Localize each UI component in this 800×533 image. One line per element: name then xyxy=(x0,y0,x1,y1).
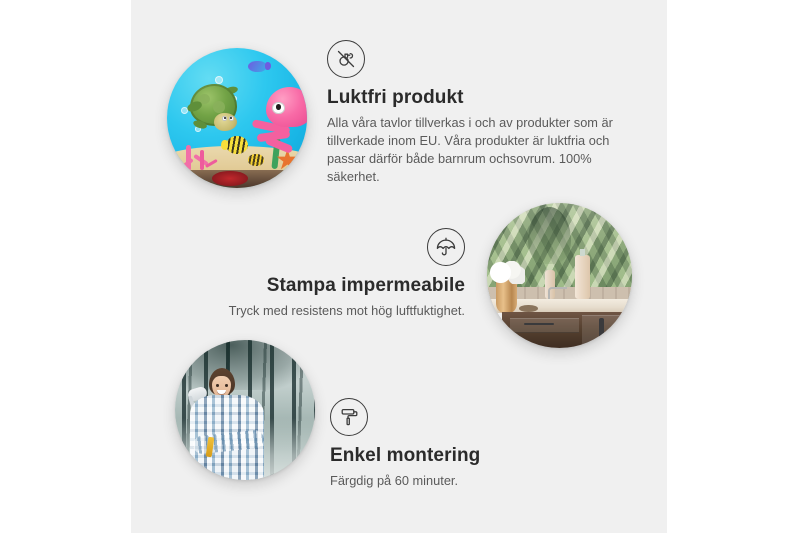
eye xyxy=(225,384,228,387)
tall-bottle xyxy=(575,255,590,299)
eye xyxy=(216,384,219,387)
wooden-vanity-cabinet xyxy=(502,312,633,348)
cabinet-handle xyxy=(599,318,605,338)
feature-body: Alla våra tavlor tillverkas i och av pro… xyxy=(327,114,627,186)
soap-dish xyxy=(519,305,538,312)
underwater-cartoon-circle-image xyxy=(167,48,307,188)
bathroom-scene xyxy=(487,203,632,348)
white-flowers xyxy=(490,261,525,284)
drawer-handle xyxy=(524,323,555,324)
feature-easy-mounting: Enkel montering Färgdig på 60 minuter. xyxy=(330,398,590,490)
feature-title: Luktfri produkt xyxy=(327,87,627,109)
feature-body: Tryck med resistens mot hög luftfuktighe… xyxy=(215,302,465,320)
feature-odour-free: Luktfri produkt Alla våra tavlor tillver… xyxy=(327,40,627,186)
decorator-woman xyxy=(186,368,273,480)
feature-body: Färgdig på 60 minuter. xyxy=(330,472,590,490)
bathroom-wallpaper-circle-image xyxy=(487,203,632,348)
ocean-floor-strip xyxy=(167,170,307,188)
umbrella-icon xyxy=(427,228,465,266)
green-sea-turtle xyxy=(187,84,250,137)
feature-waterproof-print: Stampa impermeabile Tryck med resistens … xyxy=(215,228,465,320)
pink-octopus xyxy=(251,87,307,151)
blue-fish xyxy=(248,61,266,72)
underwater-scene xyxy=(167,48,307,188)
product-feature-banner: Luktfri produkt Alla våra tavlor tillver… xyxy=(0,0,800,533)
feature-title: Enkel montering xyxy=(330,445,590,467)
paint-roller-icon xyxy=(330,398,368,436)
decorator-forest-circle-image xyxy=(175,340,315,480)
forest-scene xyxy=(175,340,315,480)
feature-title: Stampa impermeabile xyxy=(215,275,465,297)
no-perfume-spray-icon xyxy=(327,40,365,78)
small-yellow-fish xyxy=(248,154,263,165)
